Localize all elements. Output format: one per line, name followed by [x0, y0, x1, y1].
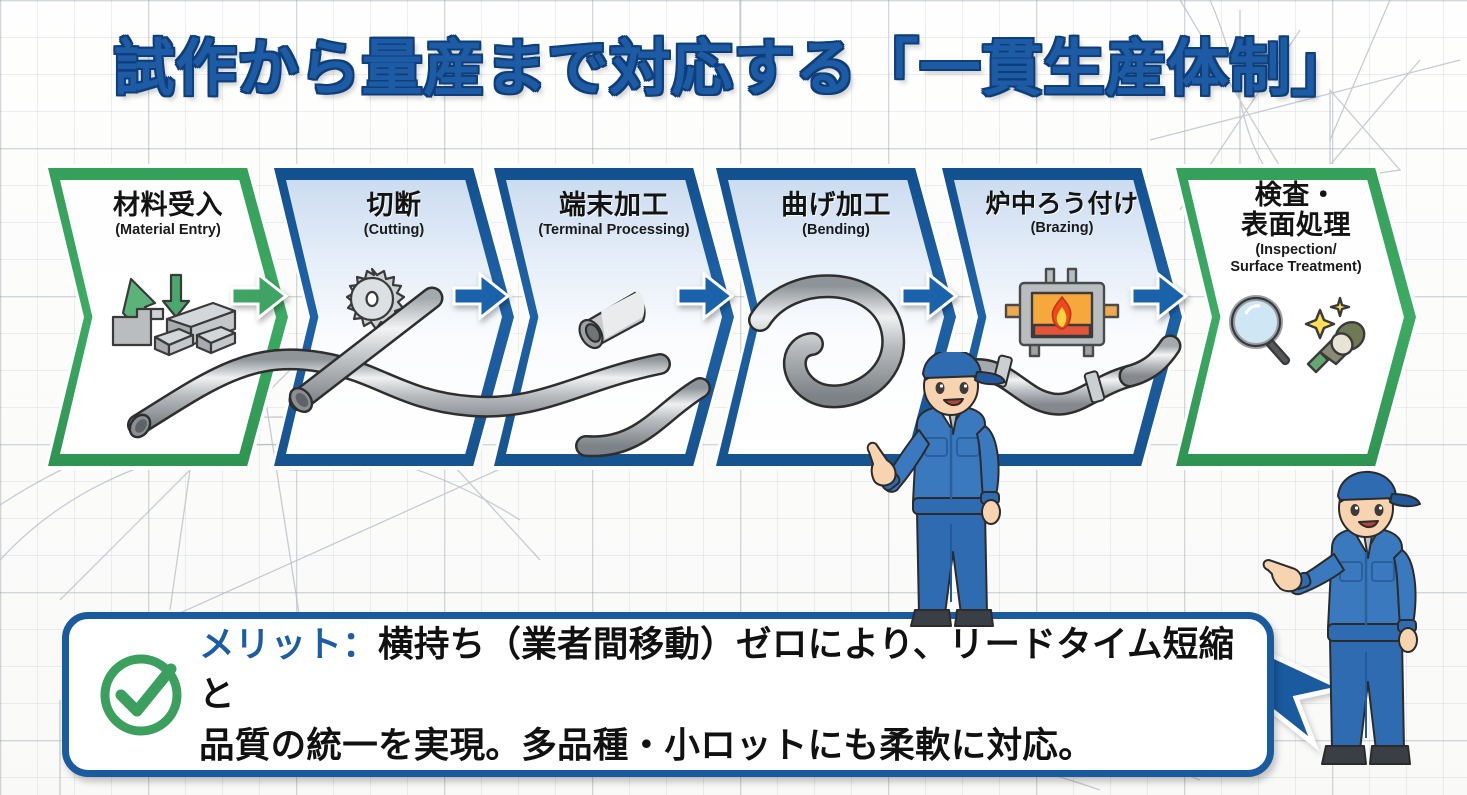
check-circle-icon — [95, 649, 187, 741]
flow-step-label-jp: 端末加工 — [490, 190, 738, 220]
flow-step-label-jp: 材料受入 — [44, 190, 292, 220]
flow-step-label-jp: 曲げ加工 — [712, 190, 960, 220]
page-title: 試作から量産まで対応する「一貫生産体制」 — [0, 18, 1467, 107]
flow-step-label-jp: 検査・ 表面処理 — [1172, 180, 1420, 240]
flow-arrow-4 — [900, 268, 958, 324]
flow-step-label-en: (Brazing) — [938, 220, 1186, 236]
worker-pointing-up — [845, 352, 1060, 652]
flow-step-label-en: (Cutting) — [270, 222, 518, 238]
flow-arrow-5 — [1130, 268, 1188, 324]
flow-step-label-en: (Material Entry) — [44, 222, 292, 238]
flow-step-label-en: (Terminal Processing) — [490, 222, 738, 238]
merit-callout-box: メリット：横持ち（業者間移動）ゼロにより、リードタイム短縮と 品質の統一を実現。… — [62, 612, 1274, 777]
worker-pointing-left — [1252, 462, 1467, 795]
magnifier-polisher-icon — [1172, 286, 1420, 376]
merit-text: メリット：横持ち（業者間移動）ゼロにより、リードタイム短縮と 品質の統一を実現。… — [199, 619, 1241, 770]
flow-step-inspection[interactable]: 検査・ 表面処理 (Inspection/ Surface Treatment) — [1172, 164, 1420, 470]
merit-body-line2: 品質の統一を実現。多品種・小ロットにも柔軟に対応。 — [199, 725, 1094, 765]
flow-arrow-1 — [230, 268, 288, 324]
flow-arrow-2 — [452, 268, 510, 324]
flow-step-label-en: (Inspection/ Surface Treatment) — [1172, 242, 1420, 274]
merit-label: メリット： — [199, 624, 378, 664]
flow-arrow-3 — [676, 268, 734, 324]
flow-step-label-jp: 炉中ろう付け — [938, 190, 1186, 218]
flow-step-label-en: (Bending) — [712, 222, 960, 238]
flow-step-label-jp: 切断 — [270, 190, 518, 220]
